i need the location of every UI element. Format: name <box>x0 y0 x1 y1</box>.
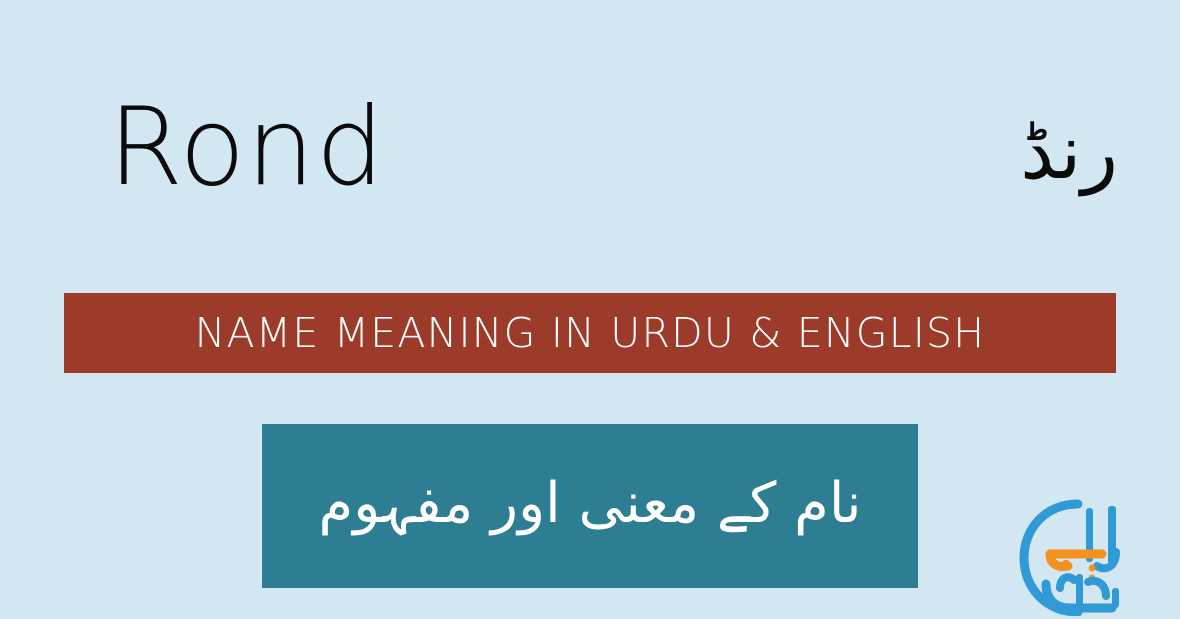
name-urdu: رنڈ <box>898 96 1118 208</box>
banner-label: NAME MEANING IN URDU & ENGLISH <box>195 311 986 355</box>
name-meaning-card: Rond رنڈ NAME MEANING IN URDU & ENGLISH … <box>0 0 1180 619</box>
hamariweb-logo: ہماری <box>1016 492 1126 616</box>
subtitle-box: نام کے معنی اور مفہوم <box>262 424 918 588</box>
subtitle-urdu-label: نام کے معنی اور مفہوم <box>319 456 862 552</box>
hamariweb-logo-mark <box>1016 492 1126 616</box>
name-latin: Rond <box>108 92 385 204</box>
banner-name-meaning: NAME MEANING IN URDU & ENGLISH <box>64 293 1116 373</box>
